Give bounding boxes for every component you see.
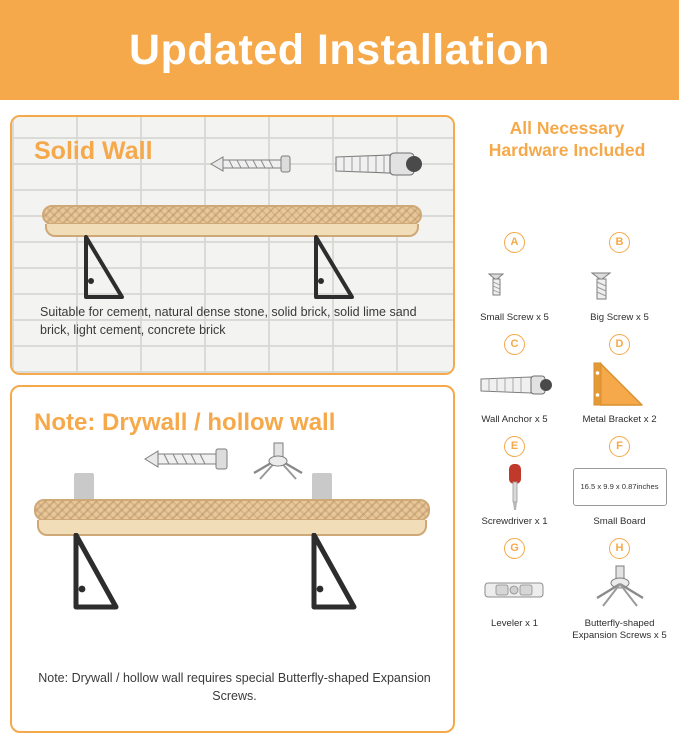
hardware-item-c: C Wall Anchor x 5 bbox=[462, 334, 567, 426]
hardware-label-f: Small Board bbox=[567, 516, 672, 528]
badge-c: C bbox=[504, 334, 525, 355]
hardware-item-e: E Screwdriver x 1 bbox=[462, 436, 567, 528]
small-screw-icon bbox=[462, 257, 567, 309]
small-board-icon: 16.5 x 9.9 x 0.87inches bbox=[567, 461, 672, 513]
metal-bracket-right-drywall bbox=[308, 533, 360, 615]
drywall-caption: Note: Drywall / hollow wall requires spe… bbox=[38, 669, 431, 705]
page-title: Updated Installation bbox=[129, 26, 550, 75]
big-screw-icon bbox=[567, 257, 672, 309]
hardware-item-d: D Metal Bracket x 2 bbox=[567, 334, 672, 426]
badge-f: F bbox=[609, 436, 630, 457]
solid-wall-label: Solid Wall bbox=[34, 137, 153, 166]
hardware-item-b: B Big Screw x 5 bbox=[567, 232, 672, 324]
hardware-label-g: Leveler x 1 bbox=[462, 618, 567, 630]
hardware-item-h: H Butterfly-shaped Expansion Screws x 5 bbox=[567, 538, 672, 643]
hardware-title-line1: All Necessary bbox=[462, 118, 672, 140]
badge-g: G bbox=[504, 538, 525, 559]
hardware-item-f: F 16.5 x 9.9 x 0.87inches Small Board bbox=[567, 436, 672, 528]
hardware-label-a: Small Screw x 5 bbox=[462, 312, 567, 324]
hardware-label-c: Wall Anchor x 5 bbox=[462, 414, 567, 426]
metal-bracket-left-drywall bbox=[70, 533, 122, 615]
hardware-label-h: Butterfly-shaped Expansion Screws x 5 bbox=[567, 618, 672, 643]
metal-bracket-icon bbox=[567, 359, 672, 411]
board-dimensions: 16.5 x 9.9 x 0.87inches bbox=[573, 468, 667, 506]
left-column: Solid Wall bbox=[10, 110, 455, 624]
drywall-panel: Note: Drywall / hollow wall bbox=[10, 385, 455, 733]
badge-a: A bbox=[504, 232, 525, 253]
badge-b: B bbox=[609, 232, 630, 253]
hardware-title: All Necessary Hardware Included bbox=[462, 118, 672, 162]
solid-wall-caption: Suitable for cement, natural dense stone… bbox=[40, 303, 437, 339]
solid-wall-panel: Solid Wall bbox=[10, 115, 455, 375]
metal-bracket-left bbox=[82, 235, 128, 303]
header-banner: Updated Installation bbox=[0, 0, 679, 100]
hardware-title-line2: Hardware Included bbox=[462, 140, 672, 162]
metal-bracket-right bbox=[312, 235, 358, 303]
hardware-item-a: A Small Screw x 5 bbox=[462, 232, 567, 324]
butterfly-screw-icon bbox=[567, 563, 672, 615]
small-screw-icon bbox=[207, 149, 317, 179]
badge-d: D bbox=[609, 334, 630, 355]
wall-anchor-icon bbox=[462, 359, 567, 411]
hardware-label-d: Metal Bracket x 2 bbox=[567, 414, 672, 426]
badge-e: E bbox=[504, 436, 525, 457]
leveler-icon bbox=[462, 563, 567, 615]
hardware-label-e: Screwdriver x 1 bbox=[462, 516, 567, 528]
drywall-label: Note: Drywall / hollow wall bbox=[34, 409, 335, 437]
badge-h: H bbox=[609, 538, 630, 559]
hardware-grid: A Small Screw x 5 B bbox=[462, 174, 672, 634]
hardware-column: All Necessary Hardware Included A bbox=[462, 118, 672, 628]
screwdriver-icon bbox=[462, 461, 567, 513]
hardware-item-g: G Leveler x 1 bbox=[462, 538, 567, 630]
big-screw-icon bbox=[140, 442, 250, 476]
hardware-label-b: Big Screw x 5 bbox=[567, 312, 672, 324]
instruction-sheet: Updated Installation Solid Wall bbox=[0, 0, 679, 634]
butterfly-screw-icon bbox=[244, 439, 314, 483]
wall-anchor-icon bbox=[330, 147, 435, 181]
